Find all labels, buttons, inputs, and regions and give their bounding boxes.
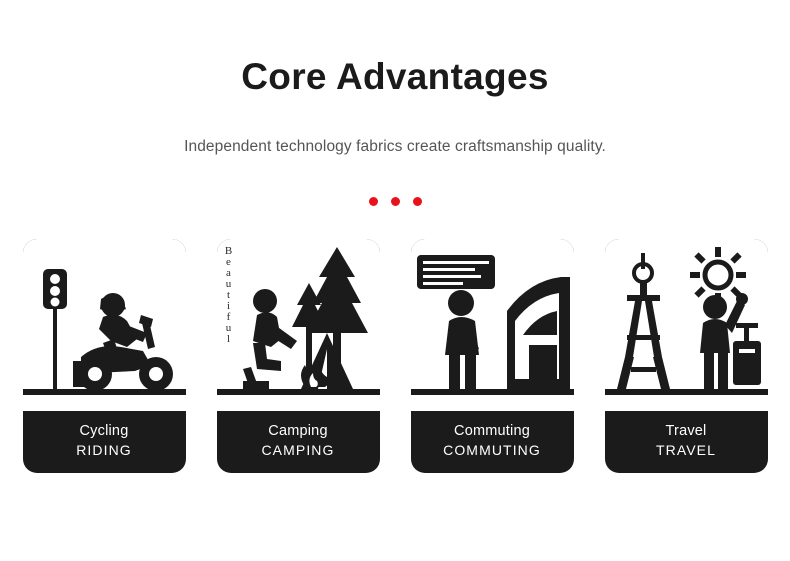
page-subtitle: Independent technology fabrics create cr… — [0, 98, 790, 156]
scooter-rider-icon — [23, 239, 186, 411]
card-title-en: CAMPING — [261, 442, 334, 458]
card-title-en: COMMUTING — [443, 442, 541, 458]
advantage-card-camping[interactable]: Beautiful Camping CAMPING — [217, 239, 380, 473]
card-title-en: TRAVEL — [656, 442, 716, 458]
card-illustration-commuting — [411, 239, 574, 411]
campfire-tent-icon — [217, 239, 380, 411]
card-overlay-text-camping: Beautiful — [223, 245, 234, 344]
card-label-travel: Travel TRAVEL — [605, 411, 768, 473]
card-label-commuting: Commuting COMMUTING — [411, 411, 574, 473]
advantage-card-list: Cycling RIDING — [0, 206, 790, 473]
decor-dot — [369, 197, 378, 206]
card-illustration-camping: Beautiful — [217, 239, 380, 411]
card-title-cn: Travel — [666, 423, 707, 439]
dot-separator — [0, 156, 790, 206]
advantages-page: Core Advantages Independent technology f… — [0, 0, 790, 561]
card-label-cycling: Cycling RIDING — [23, 411, 186, 473]
card-title-cn: Cycling — [80, 423, 129, 439]
train-commuter-icon — [411, 239, 574, 411]
card-illustration-cycling — [23, 239, 186, 411]
card-label-camping: Camping CAMPING — [217, 411, 380, 473]
advantage-card-travel[interactable]: Travel TRAVEL — [605, 239, 768, 473]
card-title-cn: Camping — [268, 423, 327, 439]
advantage-card-commuting[interactable]: Commuting COMMUTING — [411, 239, 574, 473]
decor-dot — [413, 197, 422, 206]
decor-dot — [391, 197, 400, 206]
card-title-en: RIDING — [76, 442, 132, 458]
eiffel-tower-traveler-icon — [605, 239, 768, 411]
page-title: Core Advantages — [0, 0, 790, 98]
card-illustration-travel — [605, 239, 768, 411]
card-title-cn: Commuting — [454, 423, 530, 439]
advantage-card-cycling[interactable]: Cycling RIDING — [23, 239, 186, 473]
